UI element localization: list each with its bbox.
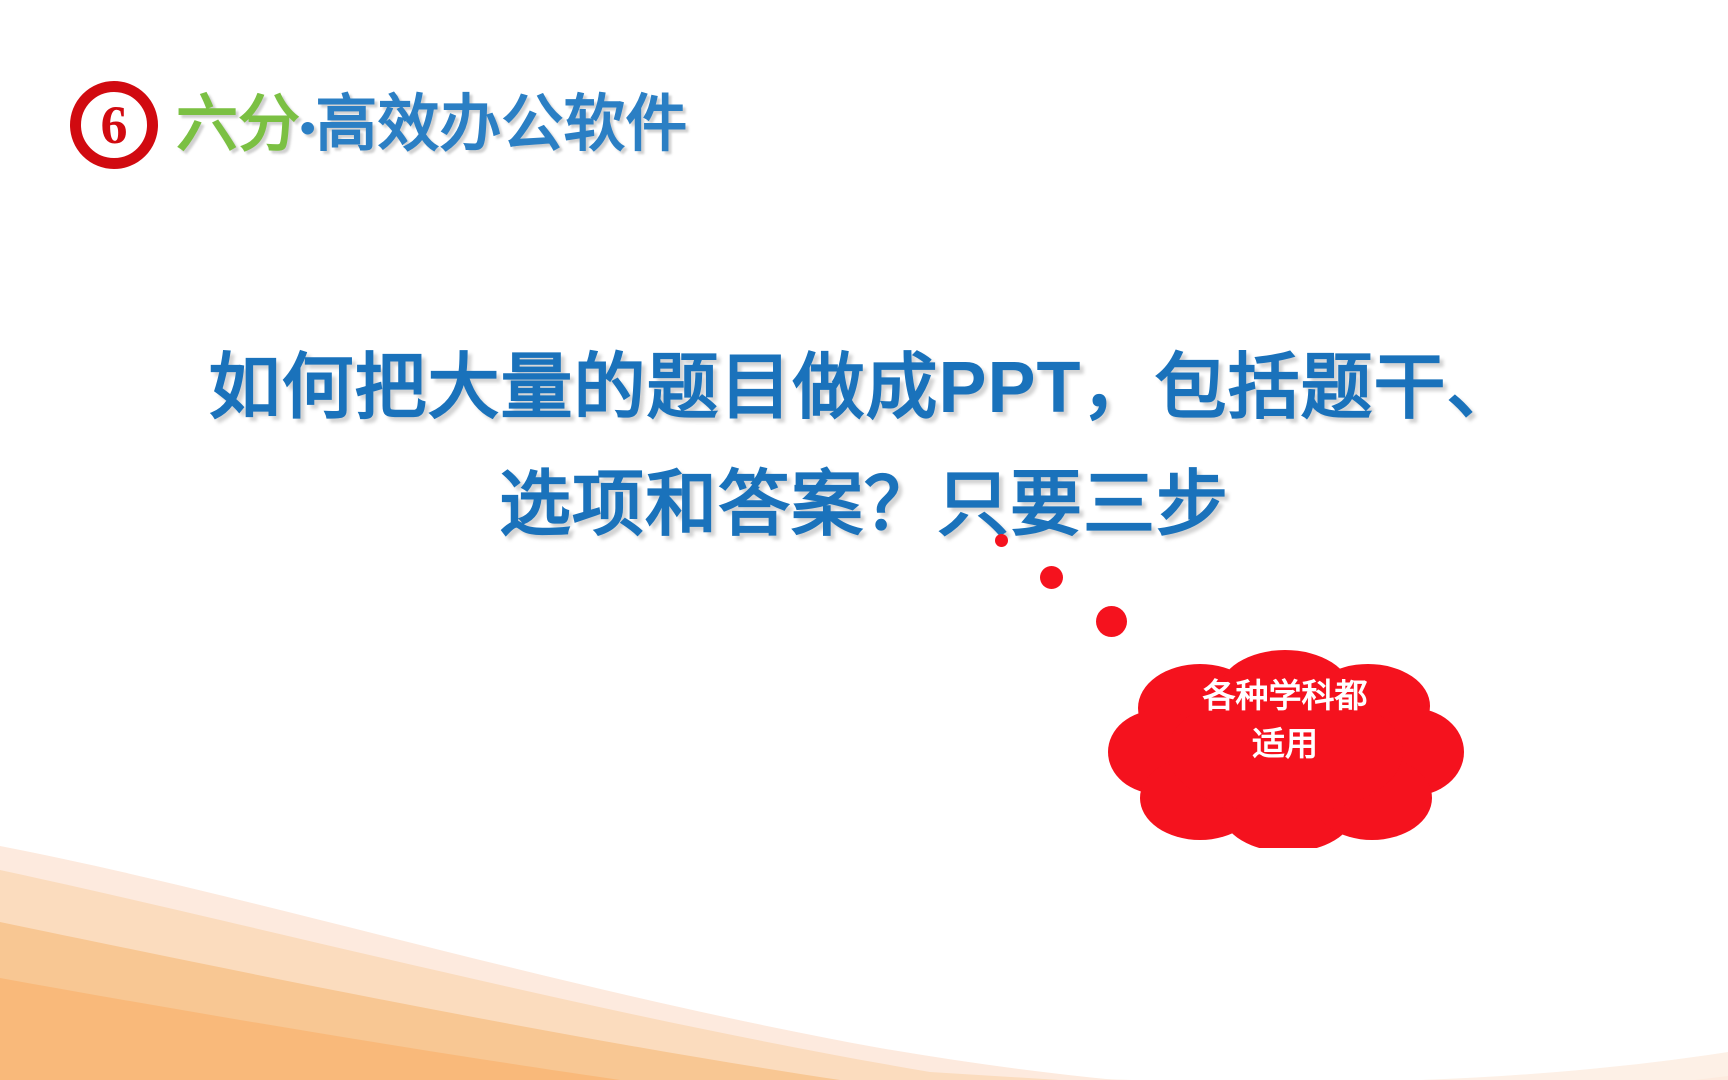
wave-layer-1 <box>0 960 1728 1080</box>
brand-badge-icon: 6 <box>70 81 158 169</box>
slide-canvas: 6 六分•高效办公软件 如何把大量的题目做成PPT，包括题干、 选项和答案？只要… <box>0 0 1728 1080</box>
brand-name: 六分•高效办公软件 <box>176 94 687 156</box>
wave-layer-4 <box>0 922 840 1080</box>
thought-dot-large <box>1096 606 1127 637</box>
page-title-line-2: 选项和答案？只要三步 <box>0 447 1728 564</box>
brand-name-primary: 六分 <box>176 90 300 159</box>
thought-dot-medium <box>1040 566 1063 589</box>
wave-layer-3 <box>0 870 1060 1080</box>
brand-name-secondary: 高效办公软件 <box>315 90 687 159</box>
wave-layer-2 <box>0 846 1728 1080</box>
thought-dot-small <box>995 534 1008 547</box>
page-title: 如何把大量的题目做成PPT，包括题干、 选项和答案？只要三步 <box>0 330 1728 563</box>
page-title-line-1: 如何把大量的题目做成PPT，包括题干、 <box>0 330 1728 447</box>
callout-text: 各种学科都 适用 <box>1100 672 1470 768</box>
callout-text-line-1: 各种学科都 <box>1100 672 1470 720</box>
wave-layer-5 <box>0 978 620 1080</box>
callout-text-line-2: 适用 <box>1100 720 1470 768</box>
brand-separator-dot: • <box>300 104 315 153</box>
brand-header: 6 六分•高效办公软件 <box>70 72 687 178</box>
